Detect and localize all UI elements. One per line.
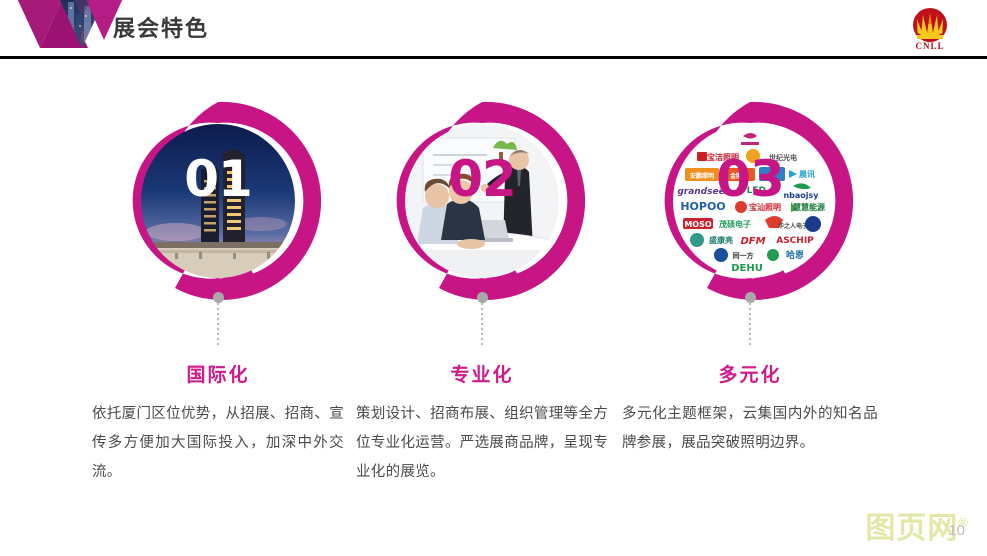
card-title: 国际化	[68, 360, 368, 387]
feature-card: 02 专业化 策划设计、招商布展、组织管理等全方位专业化运营。严选展商品牌，呈现…	[332, 96, 632, 487]
svg-text:DFM: DFM	[740, 236, 765, 247]
pin-head-icon	[745, 292, 756, 303]
svg-text:DEHU: DEHU	[731, 263, 763, 274]
feature-card: 宝洁照明 世纪光电 安鹏照明 金照明 晨讯 gra	[600, 96, 900, 458]
svg-text:盛康亮: 盛康亮	[709, 235, 733, 245]
cnll-flame-icon	[908, 7, 952, 45]
feature-card: 01 国际化 依托厦门区位优势，从招展、招商、宣传多方便加大国际投入，加深中外交…	[68, 96, 368, 487]
pin-head-icon	[213, 292, 224, 303]
pin-dashed-line	[481, 303, 483, 345]
page-title: 展会特色	[113, 14, 209, 44]
card-pin-connector	[744, 292, 756, 345]
page-number: 10	[948, 522, 965, 540]
header-divider	[0, 56, 987, 59]
watermark-text: 图页网	[865, 512, 958, 545]
card-title: 多元化	[600, 360, 900, 387]
svg-text:华之人电子: 华之人电子	[778, 222, 808, 230]
card-medallion: 02	[377, 96, 587, 306]
pin-head-icon	[477, 292, 488, 303]
cnll-brand-logo: CNLL	[901, 7, 959, 55]
card-pin-connector	[212, 292, 224, 345]
svg-text:茂硕电子: 茂硕电子	[719, 219, 751, 229]
feature-cards: 01 国际化 依托厦门区位优势，从招展、招商、宣传多方便加大国际投入，加深中外交…	[0, 96, 987, 516]
pin-dashed-line	[749, 303, 751, 345]
svg-text:MOSO: MOSO	[684, 220, 712, 229]
card-medallion: 01	[113, 96, 323, 306]
card-number: 03	[645, 154, 855, 204]
svg-text:同一方: 同一方	[733, 251, 754, 260]
pin-dashed-line	[217, 303, 219, 345]
card-body-text: 多元化主题框架，云集国内外的知名品牌参展，展品突破照明边界。	[622, 400, 878, 458]
svg-text:ASCHIP: ASCHIP	[776, 236, 814, 246]
card-title: 专业化	[332, 360, 632, 387]
card-body-text: 策划设计、招商布展、组织管理等全方位专业化运营。严选展商品牌，呈现专业化的展览。	[356, 400, 608, 487]
card-number: 01	[113, 154, 323, 204]
card-medallion: 宝洁照明 世纪光电 安鹏照明 金照明 晨讯 gra	[645, 96, 855, 306]
card-body-text: 依托厦门区位优势，从招展、招商、宣传多方便加大国际投入，加深中外交流。	[92, 400, 344, 487]
card-pin-connector	[476, 292, 488, 345]
slide-root: 展会特色 CNLL	[0, 0, 987, 556]
card-number: 02	[377, 154, 587, 204]
slide-header: 展会特色 CNLL	[0, 0, 987, 58]
